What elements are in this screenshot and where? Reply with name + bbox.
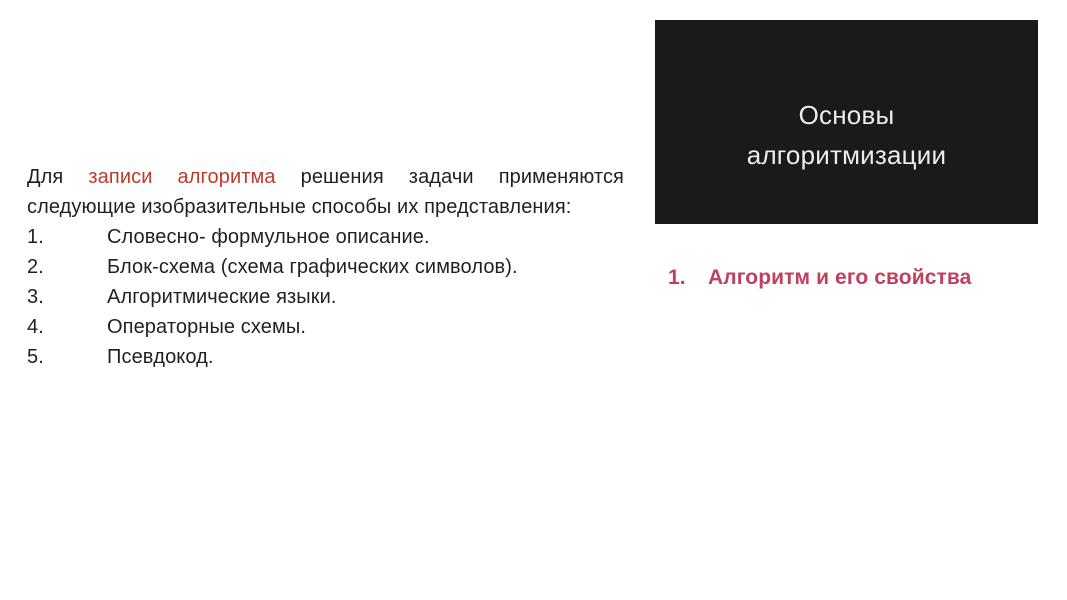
topic-list-item[interactable]: 1. Алгоритм и его свойства: [668, 264, 1038, 292]
list-item-number: 4.: [27, 312, 107, 342]
highlight-algoritma: алгоритма: [178, 166, 276, 188]
list-item-number: 5.: [27, 342, 107, 372]
title-line-1: Основы: [799, 95, 895, 135]
topic-item-number: 1.: [668, 264, 708, 292]
list-item-number: 3.: [27, 282, 107, 312]
list-item-label: Словесно- формульное описание.: [107, 222, 624, 252]
intro-text-part-1: Для: [27, 166, 88, 188]
list-item: 3. Алгоритмические языки.: [27, 282, 624, 312]
list-item-label: Блок-схема (схема графических символов).: [107, 252, 624, 282]
list-item-label: Псевдокод.: [107, 342, 624, 372]
list-item-number: 1.: [27, 222, 107, 252]
intro-text-space: [152, 166, 177, 188]
highlight-zapisi: записи: [88, 166, 152, 188]
left-content-column: Для записи алгоритма решения задачи прим…: [27, 163, 624, 372]
list-item: 1. Словесно- формульное описание.: [27, 222, 624, 252]
topics-list: 1. Алгоритм и его свойства: [668, 264, 1038, 292]
title-line-2: алгоритмизации: [747, 135, 946, 175]
intro-paragraph: Для записи алгоритма решения задачи прим…: [27, 163, 624, 222]
list-item-label: Алгоритмические языки.: [107, 282, 624, 312]
title-card: Основы алгоритмизации: [655, 20, 1038, 224]
list-item-label: Операторные схемы.: [107, 312, 624, 342]
list-item: 4. Операторные схемы.: [27, 312, 624, 342]
list-item: 5. Псевдокод.: [27, 342, 624, 372]
list-item: 2. Блок-схема (схема графических символо…: [27, 252, 624, 282]
list-item-number: 2.: [27, 252, 107, 282]
topic-item-label: Алгоритм и его свойства: [708, 264, 1038, 292]
slide-canvas: Для записи алгоритма решения задачи прим…: [0, 0, 1067, 600]
methods-list: 1. Словесно- формульное описание. 2. Бло…: [27, 222, 624, 372]
